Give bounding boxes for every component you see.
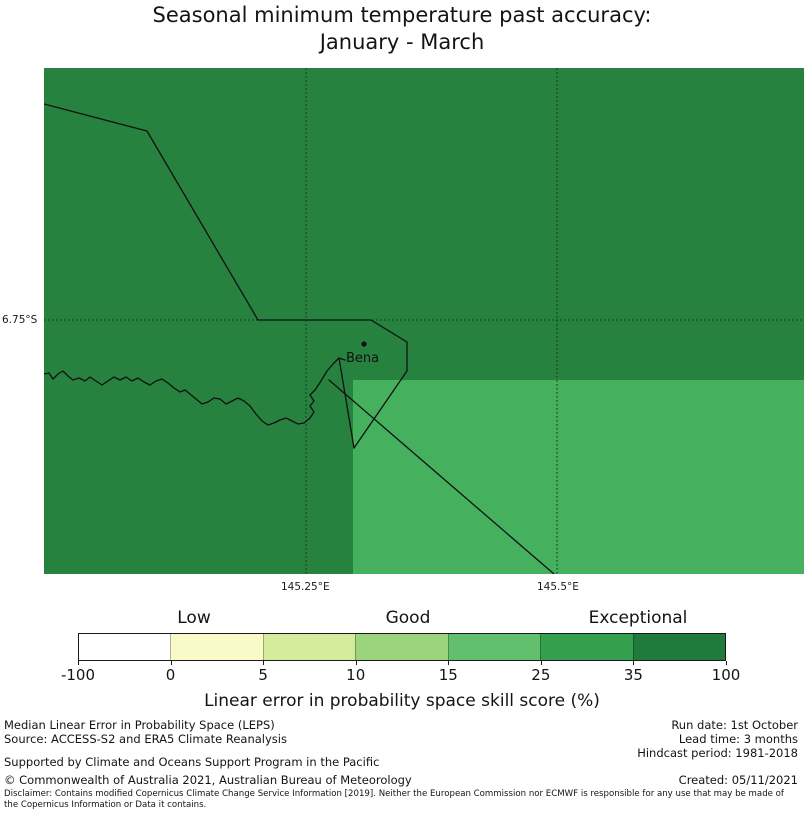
colorbar-ticklabel-0: -100 [61, 666, 95, 684]
axis-xtick-label-145-25e: 145.25°E [281, 581, 330, 593]
footer-disclaimer: Disclaimer: Contains modified Copernicus… [4, 789, 800, 810]
colorbar-swatch-0 [79, 634, 170, 660]
map-canvas [44, 68, 804, 574]
city-marker-bena-label: Bena [346, 351, 379, 366]
footer-supported-note: Supported by Climate and Oceans Support … [4, 755, 379, 769]
colorbar-swatch-6 [633, 634, 725, 660]
colorbar-swatch-strip[interactable] [78, 633, 726, 661]
colorbar-swatch-2 [263, 634, 355, 660]
colorbar-swatch-3 [355, 634, 447, 660]
colorbar-tickmark-2 [263, 661, 264, 665]
colorbar-ticklabel-2: 5 [258, 666, 268, 684]
colorbar-tickmark-1 [171, 661, 172, 665]
colorbar-category-good: Good [353, 608, 463, 628]
colorbar-category-exceptional: Exceptional [548, 608, 728, 628]
colorbar-ticklabel-3: 10 [346, 666, 365, 684]
colorbar-swatch-5 [540, 634, 632, 660]
colorbar-tickmark-5 [541, 661, 542, 665]
colorbar-ticklabel-5: 25 [531, 666, 550, 684]
colorbar-swatch-1 [170, 634, 262, 660]
colorbar-tickmark-3 [356, 661, 357, 665]
colorbar-tickmark-4 [448, 661, 449, 665]
colorbar-ticklabel-6: 35 [624, 666, 643, 684]
colorbar-tickmark-6 [633, 661, 634, 665]
colorbar-tick-row: -1000510152535100 [78, 661, 726, 691]
footer-leps-note: Median Linear Error in Probability Space… [4, 718, 275, 732]
colorbar-axis-label: Linear error in probability space skill … [0, 691, 804, 711]
map-plot-area[interactable]: Bena [44, 68, 804, 574]
colorbar-ticklabel-7: 100 [712, 666, 741, 684]
colorbar-tickmark-0 [78, 661, 79, 665]
colorbar-ticklabel-4: 15 [439, 666, 458, 684]
colorbar-category-low: Low [124, 608, 264, 628]
footer-hindcast-period: Hindcast period: 1981-2018 [637, 746, 798, 760]
footer-lead-time: Lead time: 3 months [679, 732, 798, 746]
axis-ytick-label-6-75s: 6.75°S [2, 314, 37, 326]
axis-xtick-label-145-5e: 145.5°E [537, 581, 579, 593]
page-title: Seasonal minimum temperature past accura… [0, 2, 804, 56]
colorbar-legend: Low Good Exceptional -1000510152535100 L… [0, 608, 804, 713]
footer-copyright-note: © Commonwealth of Australia 2021, Austra… [4, 773, 412, 787]
footer-source-note: Source: ACCESS-S2 and ERA5 Climate Reana… [4, 732, 287, 746]
title-line-2: January - March [0, 29, 804, 56]
footer-created-date: Created: 05/11/2021 [679, 773, 798, 787]
city-marker-bena-dot[interactable] [361, 341, 366, 346]
colorbar-tickmark-7 [726, 661, 727, 665]
title-line-1: Seasonal minimum temperature past accura… [0, 2, 804, 29]
colorbar-category-row: Low Good Exceptional [78, 608, 726, 632]
footer-block: Median Linear Error in Probability Space… [0, 718, 804, 816]
footer-run-date: Run date: 1st October [671, 718, 798, 732]
skill-region-southeast-patch [353, 380, 804, 574]
colorbar-ticklabel-1: 0 [166, 666, 176, 684]
colorbar-swatch-4 [448, 634, 540, 660]
